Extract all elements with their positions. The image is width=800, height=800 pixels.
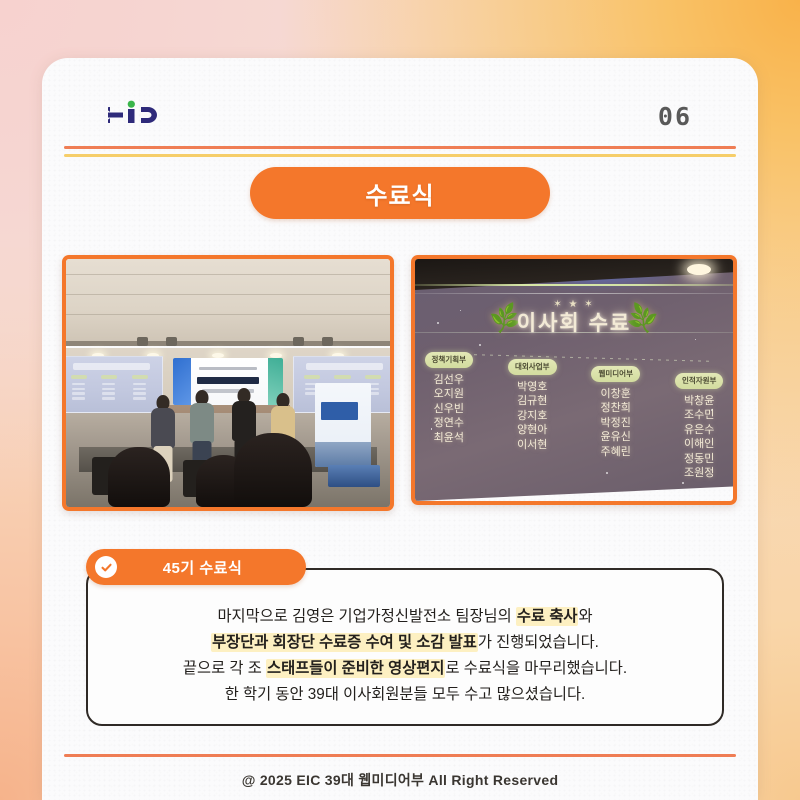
member-name: 최윤석 bbox=[425, 431, 474, 446]
highlighted-phrase: 부장단과 회장단 수료증 수여 및 소감 발표 bbox=[211, 633, 478, 652]
member-name-list: 이창훈 정찬희 박정진 윤유신 주혜린 bbox=[591, 387, 640, 460]
board-completion-slide-content: ✶ ★ ✶ 🌿 🌿 이사회 수료 정책기획부 김선우 오지원 신우빈 정연수 최… bbox=[415, 259, 733, 501]
ceiling-seam bbox=[66, 294, 390, 295]
stage-spotlight bbox=[166, 337, 177, 346]
plain-phrase: 와 bbox=[578, 608, 592, 625]
poster-page: 06 수료식 bbox=[0, 0, 800, 800]
department-pill: 대외사업부 bbox=[508, 359, 557, 375]
ceiling-seam bbox=[66, 314, 390, 315]
screen-dept-pill bbox=[365, 375, 381, 379]
member-name: 조수민 bbox=[675, 408, 724, 423]
stage-spotlight bbox=[322, 337, 333, 346]
screen-name-line bbox=[72, 383, 85, 385]
department-pill: 웹미디어부 bbox=[591, 366, 640, 382]
check-icon bbox=[95, 556, 117, 578]
department-pill: 인적자원부 bbox=[675, 373, 724, 389]
highlighted-phrase: 수료 축사 bbox=[516, 607, 579, 626]
presenter-body bbox=[151, 408, 175, 448]
stage-spotlight bbox=[137, 337, 148, 346]
stage-spotlight bbox=[293, 337, 304, 346]
member-name: 정찬희 bbox=[591, 401, 640, 416]
header-divider-orange bbox=[64, 146, 736, 149]
screen-title-block bbox=[306, 363, 383, 370]
screen-accent-line bbox=[415, 284, 733, 286]
rollup-banner-text bbox=[321, 402, 358, 421]
screen-dept-pill bbox=[71, 375, 87, 379]
eid-logo-mark bbox=[108, 98, 170, 132]
slide-column: 웹미디어부 이창훈 정찬희 박정진 윤유신 주혜린 bbox=[591, 363, 640, 460]
member-name: 이서현 bbox=[508, 438, 557, 453]
screen-name-line bbox=[102, 392, 115, 394]
header: 06 bbox=[64, 82, 736, 154]
event-banner-line bbox=[199, 367, 256, 371]
rollup-banner-photo bbox=[315, 442, 370, 467]
page-number: 06 bbox=[658, 102, 692, 131]
status-badge-label: 45기 수료식 bbox=[117, 557, 306, 578]
description-box: 마지막으로 김영은 기업가정신발전소 팀장님의 수료 축사와부장단과 회장단 수… bbox=[86, 568, 724, 726]
member-name: 박창윤 bbox=[675, 394, 724, 409]
lighting-rail bbox=[66, 341, 390, 346]
footer-copyright: @ 2025 EIC 39대 웹미디어부 All Right Reserved bbox=[42, 770, 758, 790]
event-banner-accent bbox=[173, 358, 191, 405]
screen-name-line bbox=[72, 397, 85, 399]
screen-title-block bbox=[73, 363, 150, 370]
member-name: 이해인 bbox=[675, 437, 724, 452]
member-name: 강지호 bbox=[508, 409, 557, 424]
section-title-banner: 수료식 bbox=[250, 167, 550, 219]
member-name: 박영호 bbox=[508, 380, 557, 395]
member-name: 정동민 bbox=[675, 452, 724, 467]
ceiling-seam bbox=[66, 274, 390, 275]
footer-divider bbox=[64, 754, 736, 757]
status-badge: 45기 수료식 bbox=[86, 549, 306, 585]
plain-phrase: 가 진행되었습니다. bbox=[478, 634, 599, 651]
member-name: 김선우 bbox=[425, 373, 474, 388]
plain-phrase: 끝으로 각 조 bbox=[183, 660, 266, 677]
member-name: 오지원 bbox=[425, 387, 474, 402]
screen-name-line bbox=[133, 388, 146, 390]
side-projection-screen bbox=[66, 356, 163, 413]
ceremony-stage-photo bbox=[62, 255, 394, 511]
description-line: 끝으로 각 조 스태프들이 준비한 영상편지로 수료식을 마무리했습니다. bbox=[88, 656, 722, 682]
member-name: 양현아 bbox=[508, 423, 557, 438]
member-name: 박정진 bbox=[591, 416, 640, 431]
event-banner-line bbox=[197, 377, 259, 384]
member-name: 김규현 bbox=[508, 394, 557, 409]
member-name: 이창훈 bbox=[591, 387, 640, 402]
screen-name-line bbox=[133, 392, 146, 394]
screen-name-line bbox=[102, 397, 115, 399]
description-line: 한 학기 동안 39대 이사회원분들 모두 수고 많으셨습니다. bbox=[88, 682, 722, 708]
rollup-banner bbox=[315, 383, 370, 467]
screen-name-line bbox=[72, 388, 85, 390]
description-line: 부장단과 회장단 수료증 수여 및 소감 발표가 진행되었습니다. bbox=[88, 630, 722, 656]
screen-name-line bbox=[72, 392, 85, 394]
member-name-list: 박영호 김규현 강지호 양현아 이서현 bbox=[508, 380, 557, 453]
audience-head bbox=[234, 433, 312, 507]
plain-phrase: 로 수료식을 마무리했습니다. bbox=[445, 660, 627, 677]
screen-dept-pill bbox=[132, 375, 148, 379]
content-card: 06 수료식 bbox=[42, 58, 758, 800]
department-pill: 정책기획부 bbox=[425, 352, 474, 368]
ceremony-stage-photo-content bbox=[66, 259, 390, 507]
ceiling-lamp bbox=[687, 264, 711, 275]
audience-head bbox=[108, 447, 170, 507]
plain-phrase: 마지막으로 김영은 기업가정신발전소 팀장님의 bbox=[217, 608, 515, 625]
member-name: 주혜린 bbox=[591, 445, 640, 460]
slide-column: 대외사업부 박영호 김규현 강지호 양현아 이서현 bbox=[508, 356, 557, 453]
screen-name-line bbox=[133, 383, 146, 385]
screen-dept-pill bbox=[334, 375, 350, 379]
eid-logo bbox=[108, 98, 170, 132]
screen-name-line bbox=[133, 397, 146, 399]
slide-title: 이사회 수료 bbox=[415, 307, 733, 337]
member-name: 정연수 bbox=[425, 416, 474, 431]
member-name: 조원정 bbox=[675, 466, 724, 481]
plain-phrase: 한 학기 동안 39대 이사회원분들 모두 수고 많으셨습니다. bbox=[225, 686, 586, 703]
screen-dept-pill bbox=[304, 375, 320, 379]
description-text: 마지막으로 김영은 기업가정신발전소 팀장님의 수료 축사와부장단과 회장단 수… bbox=[88, 604, 722, 708]
member-name-list: 박창윤 조수민 유은수 이해인 정동민 조원정 bbox=[675, 394, 724, 481]
description-line: 마지막으로 김영은 기업가정신발전소 팀장님의 수료 축사와 bbox=[88, 604, 722, 630]
member-name-list: 김선우 오지원 신우빈 정연수 최윤석 bbox=[425, 373, 474, 446]
header-divider-yellow bbox=[64, 154, 736, 157]
presenter-body bbox=[190, 403, 214, 443]
slide-column: 인적자원부 박창윤 조수민 유은수 이해인 정동민 조원정 bbox=[675, 370, 724, 481]
member-name: 윤유신 bbox=[591, 430, 640, 445]
screen-dept-pill bbox=[101, 375, 117, 379]
highlighted-phrase: 스태프들이 준비한 영상편지 bbox=[266, 659, 445, 678]
screen-name-line bbox=[102, 383, 115, 385]
hall-ceiling bbox=[66, 259, 390, 343]
star-speck bbox=[682, 482, 684, 484]
board-completion-slide-photo: ✶ ★ ✶ 🌿 🌿 이사회 수료 정책기획부 김선우 오지원 신우빈 정연수 최… bbox=[411, 255, 737, 505]
member-name: 신우빈 bbox=[425, 402, 474, 417]
event-banner bbox=[173, 358, 283, 405]
section-title-text: 수료식 bbox=[365, 176, 434, 211]
member-name: 유은수 bbox=[675, 423, 724, 438]
star-speck bbox=[479, 344, 481, 346]
slide-department-columns: 정책기획부 김선우 오지원 신우빈 정연수 최윤석 대외사업부 박영호 bbox=[425, 349, 724, 481]
slide-column: 정책기획부 김선우 오지원 신우빈 정연수 최윤석 bbox=[425, 349, 474, 446]
laptop bbox=[328, 465, 380, 487]
screen-name-line bbox=[102, 388, 115, 390]
screen-accent-line bbox=[415, 293, 733, 295]
